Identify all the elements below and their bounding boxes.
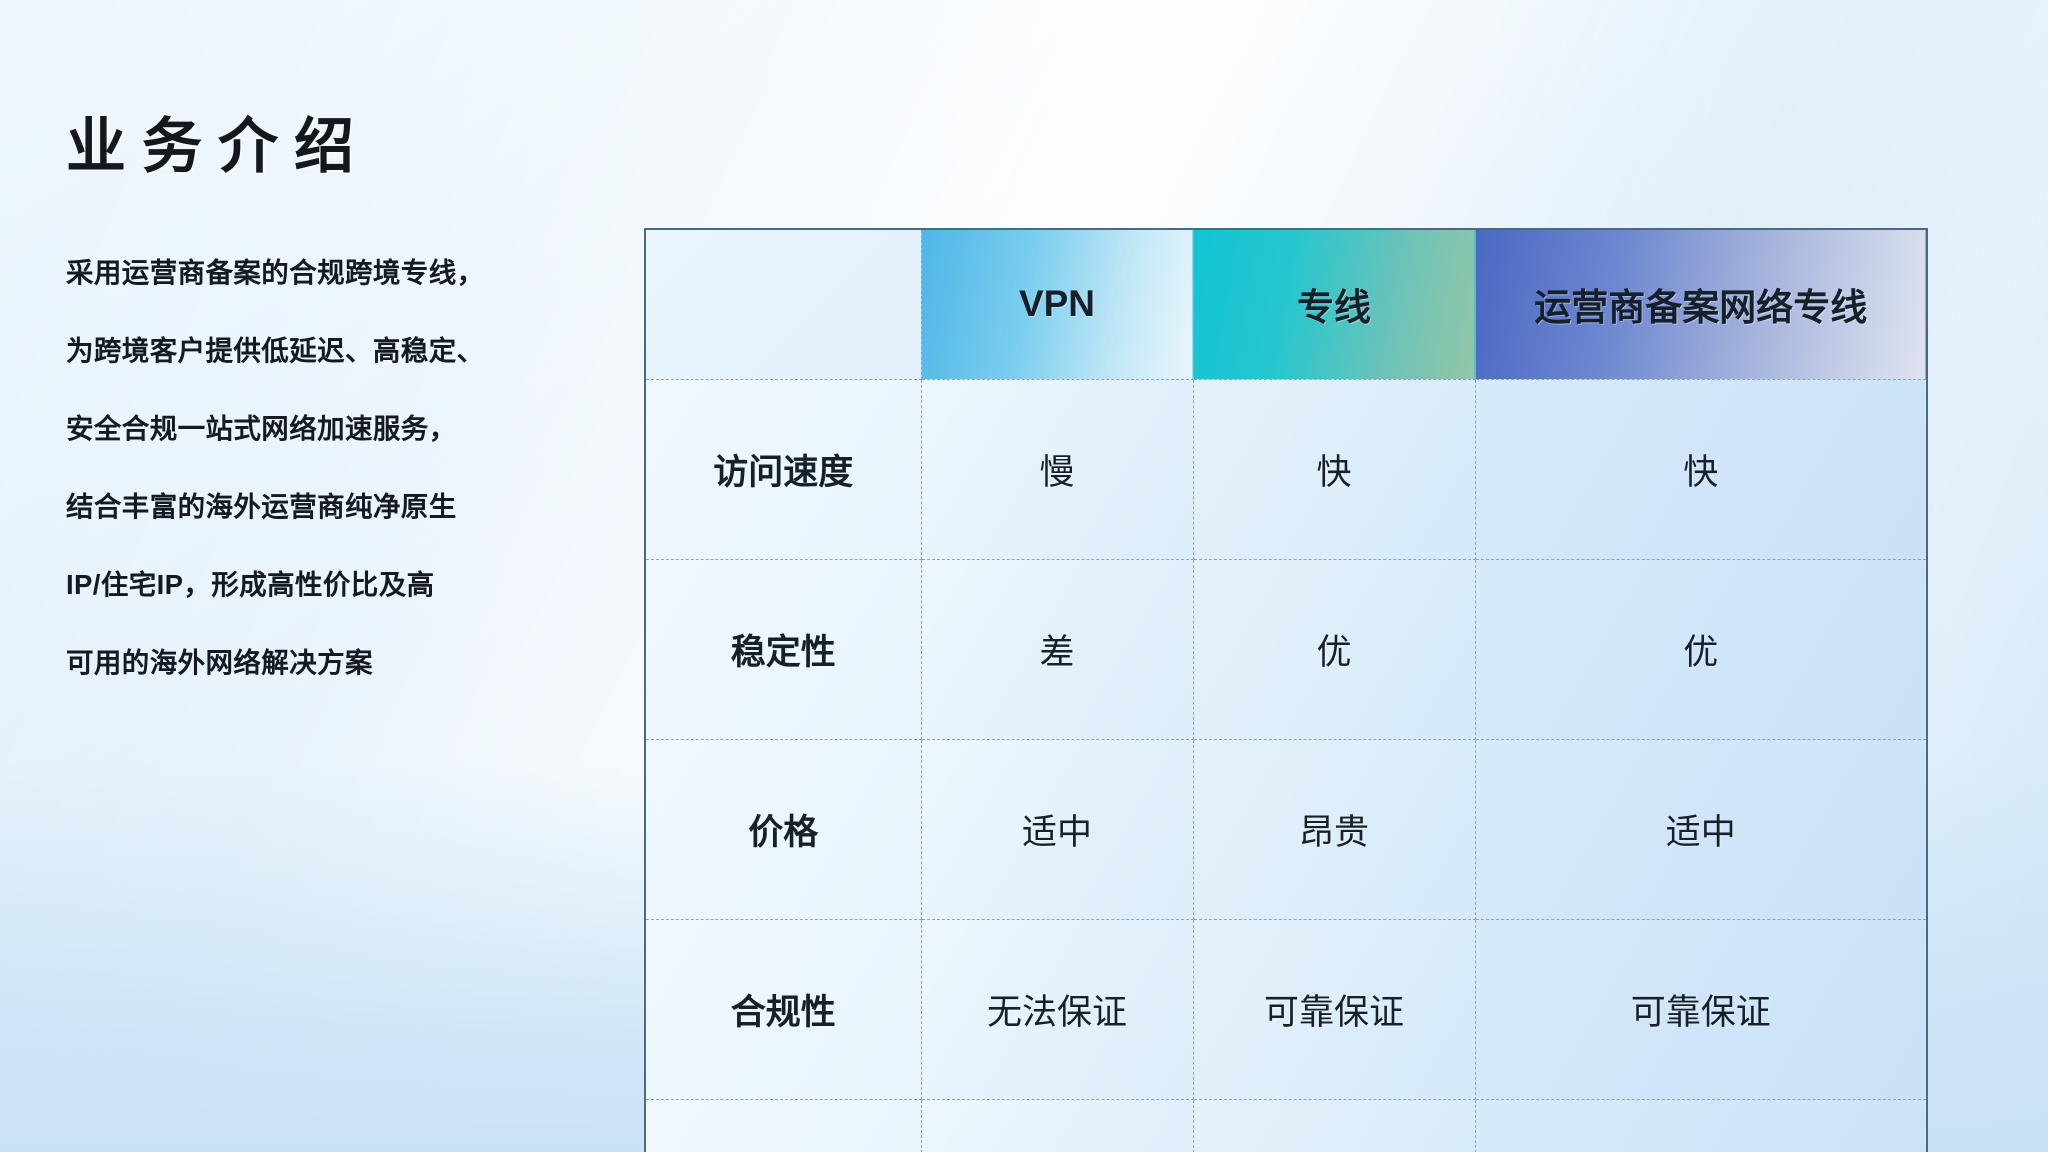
cell-value: 昂贵 <box>1193 739 1475 919</box>
cell-value: 优 <box>1193 559 1475 739</box>
cell-value: 适中 <box>921 739 1193 919</box>
cell-value: 无法保证 <box>921 919 1193 1099</box>
cell-value: 7x24 <box>1475 1099 1927 1152</box>
intro-line: 采用运营商备案的合规跨境专线， <box>66 234 626 312</box>
intro-line: 为跨境客户提供低延迟、高稳定、 <box>66 312 626 390</box>
cell-value: 快 <box>1193 379 1475 559</box>
cell-value: 可靠保证 <box>1193 919 1475 1099</box>
cell-value: 慢 <box>1193 1099 1475 1152</box>
intro-paragraph: 采用运营商备案的合规跨境专线， 为跨境客户提供低延迟、高稳定、 安全合规一站式网… <box>66 234 626 702</box>
intro-line: 安全合规一站式网络加速服务， <box>66 390 626 468</box>
cell-value: 可靠保证 <box>1475 919 1927 1099</box>
cell-value: 优 <box>1475 559 1927 739</box>
table-row: 访问速度 慢 快 快 <box>645 379 1927 559</box>
table-row: 服务响应 基本无 慢 7x24 <box>645 1099 1927 1152</box>
cell-value: 适中 <box>1475 739 1927 919</box>
intro-line: IP/住宅IP，形成高性价比及高 <box>66 546 626 624</box>
comparison-table: VPN 专线 运营商备案网络专线 访问速度 慢 快 快 稳定性 差 优 优 价格… <box>644 228 1928 1152</box>
table-row: 合规性 无法保证 可靠保证 可靠保证 <box>645 919 1927 1099</box>
column-header-vpn: VPN <box>921 229 1193 379</box>
column-header-filed-network-line: 运营商备案网络专线 <box>1475 229 1927 379</box>
cell-value: 差 <box>921 559 1193 739</box>
cell-value: 快 <box>1475 379 1927 559</box>
row-label-service-response: 服务响应 <box>645 1099 921 1152</box>
row-label-compliance: 合规性 <box>645 919 921 1099</box>
cell-value: 基本无 <box>921 1099 1193 1152</box>
table-row: 价格 适中 昂贵 适中 <box>645 739 1927 919</box>
cell-value: 慢 <box>921 379 1193 559</box>
slide-canvas: 业务介绍 采用运营商备案的合规跨境专线， 为跨境客户提供低延迟、高稳定、 安全合… <box>0 0 2048 1152</box>
table-header: VPN 专线 运营商备案网络专线 <box>645 229 1927 379</box>
column-header-dedicated-line: 专线 <box>1193 229 1475 379</box>
row-label-access-speed: 访问速度 <box>645 379 921 559</box>
table-row: 稳定性 差 优 优 <box>645 559 1927 739</box>
table-body: 访问速度 慢 快 快 稳定性 差 优 优 价格 适中 昂贵 适中 合规性 无法保… <box>645 379 1927 1152</box>
column-header-blank <box>645 229 921 379</box>
row-label-price: 价格 <box>645 739 921 919</box>
intro-line: 可用的海外网络解决方案 <box>66 624 626 702</box>
table-header-row: VPN 专线 运营商备案网络专线 <box>645 229 1927 379</box>
intro-line: 结合丰富的海外运营商纯净原生 <box>66 468 626 546</box>
row-label-stability: 稳定性 <box>645 559 921 739</box>
page-title: 业务介绍 <box>66 98 370 185</box>
